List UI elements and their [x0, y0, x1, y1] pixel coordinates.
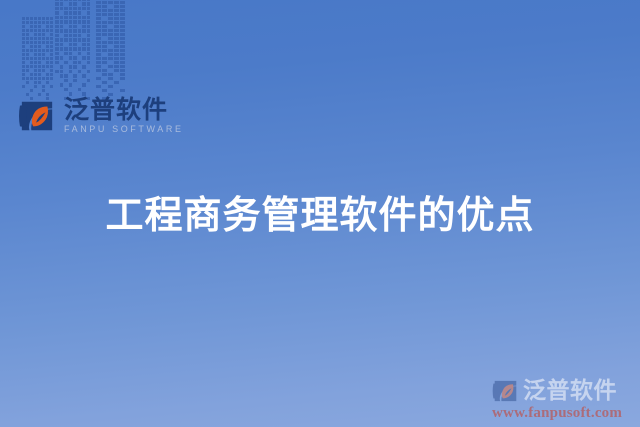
- brand-logo: 泛普软件 FANPU SOFTWARE: [18, 96, 184, 134]
- watermark-logo-row: 泛普软件: [492, 378, 632, 404]
- skyline-building-center: [55, 4, 91, 100]
- fanpu-shield-swoosh-icon: [492, 378, 519, 404]
- watermark-name-cn: 泛普软件: [523, 380, 617, 403]
- watermark: 泛普软件 www.fanpusoft.com: [492, 378, 632, 421]
- skyline-building-right: [96, 36, 130, 100]
- brand-name-en: FANPU SOFTWARE: [64, 125, 184, 134]
- brand-wordmark: 泛普软件 FANPU SOFTWARE: [64, 97, 184, 134]
- fanpu-shield-swoosh-icon: [18, 98, 56, 134]
- skyline-building-left: [22, 38, 52, 100]
- watermark-url: www.fanpusoft.com: [492, 406, 632, 421]
- pixel-building-skyline-icon: [22, 0, 130, 100]
- marketing-banner: 泛普软件 FANPU SOFTWARE 工程商务管理软件的优点 泛普软件 www…: [0, 0, 640, 427]
- page-title: 工程商务管理软件的优点: [0, 192, 640, 240]
- brand-name-cn: 泛普软件: [64, 97, 184, 123]
